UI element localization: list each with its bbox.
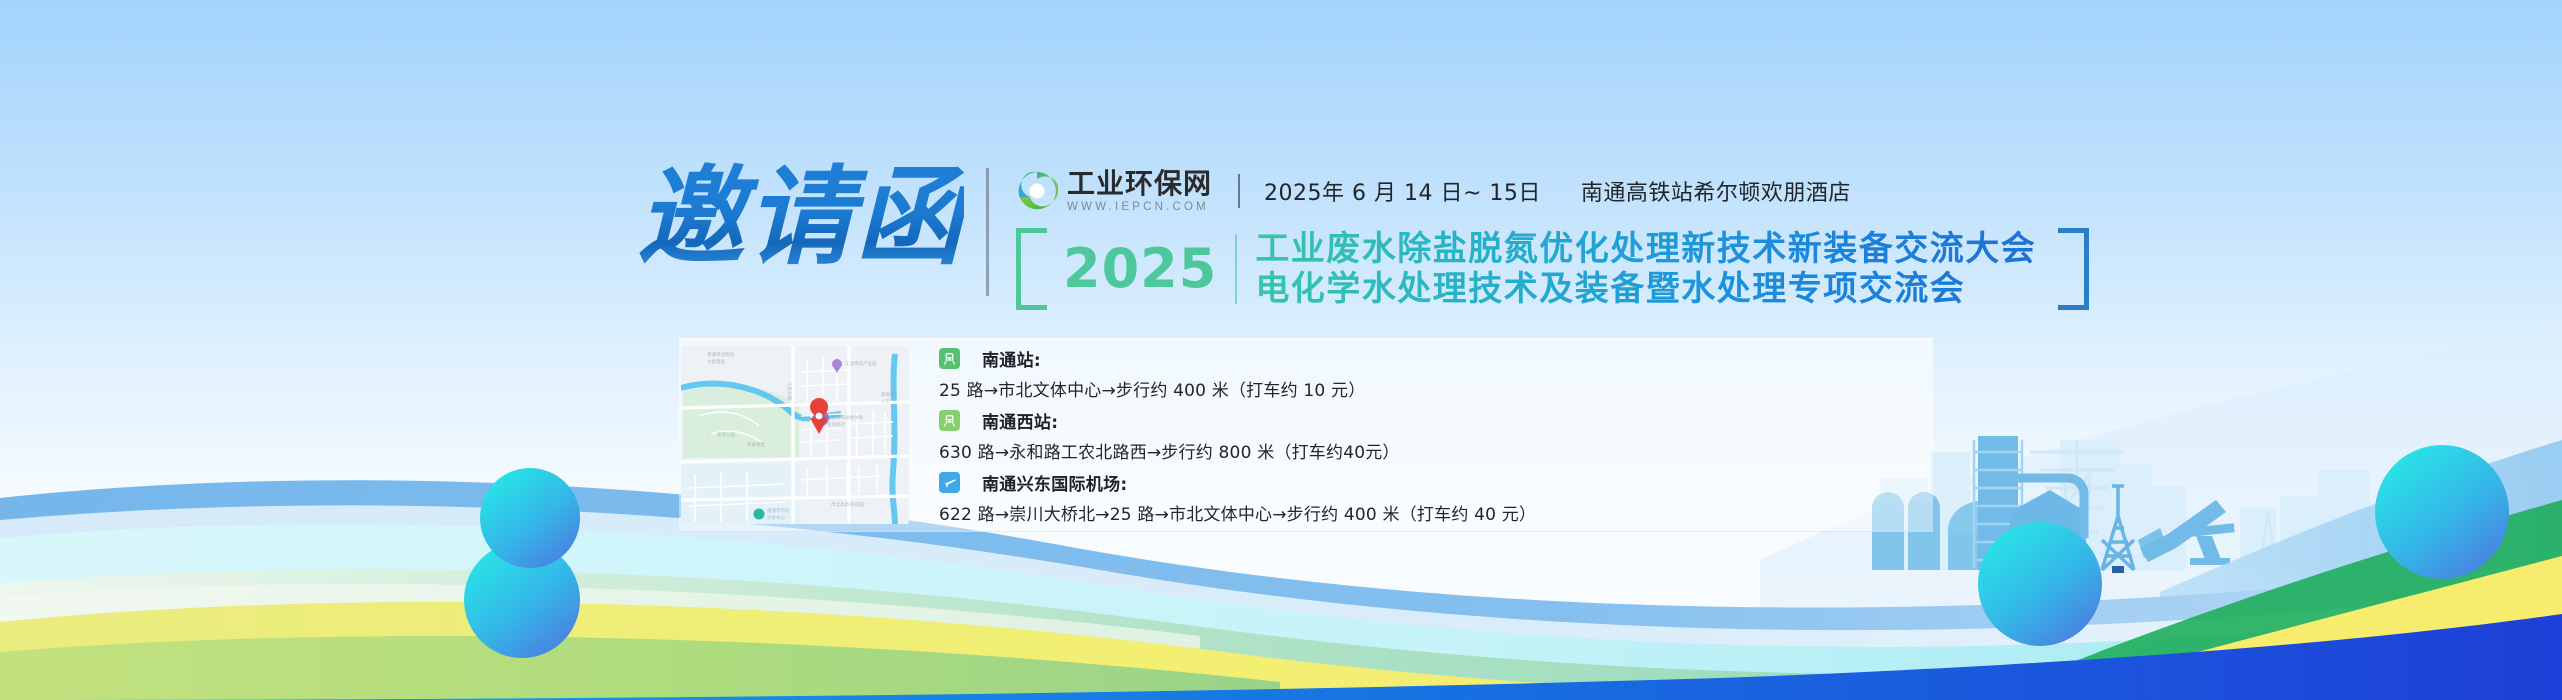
route-header: 南通兴东国际机场: <box>939 472 1536 494</box>
svg-text:欢朋酒店: 欢朋酒店 <box>827 421 845 428</box>
transport-info-card: 南通市北物流 力星电商 紫琅公园 喷泉景区 工业博览产业园 南通高铁站希尔顿 欢… <box>679 338 1933 532</box>
conference-title-lines: 工业废水除盐脱氮优化处理新技术新装备交流大会 电化学水处理技术及装备暨水处理专项… <box>1255 228 2036 310</box>
banner-header: 邀请函 <box>637 162 1957 312</box>
title-separator <box>1235 234 1237 304</box>
svg-text:喷泉景区: 喷泉景区 <box>747 441 765 448</box>
map-thumbnail[interactable]: 南通市北物流 力星电商 紫琅公园 喷泉景区 工业博览产业园 南通高铁站希尔顿 欢… <box>681 346 909 524</box>
airplane-icon <box>939 472 960 493</box>
route-description: 25 路→市北文体中心→步行约 400 米（打车约 10 元） <box>939 376 1536 401</box>
route-list: 南通站: 25 路→市北文体中心→步行约 400 米（打车约 10 元） <box>939 346 1536 525</box>
conference-title-row: 2025 工业废水除盐脱氮优化处理新技术新装备交流大会 电化学水处理技术及装备暨… <box>1016 228 2089 310</box>
invitation-banner: 邀请函 <box>0 0 2562 700</box>
route-name: 南通西站: <box>982 408 1058 433</box>
svg-text:小学: 小学 <box>881 398 890 405</box>
brand-separator <box>1238 174 1240 208</box>
svg-text:紫琅公园: 紫琅公园 <box>717 431 735 438</box>
ring-logo-icon <box>1016 170 1058 212</box>
route-name: 南通兴东国际机场: <box>982 470 1128 495</box>
svg-text:文体中心: 文体中心 <box>767 514 785 521</box>
event-venue: 南通高铁站希尔顿欢朋酒店 <box>1581 175 1851 207</box>
page-title: 邀请函 <box>637 162 964 274</box>
conference-title-line-2: 电化学水处理技术及装备暨水处理专项交流会 <box>1255 269 2036 309</box>
route-item: 南通西站: 630 路→永和路工农北路西→步行约 800 米（打车约40元） <box>939 410 1536 463</box>
brand-name: 工业环保网 <box>1067 169 1212 199</box>
header-divider <box>986 168 989 296</box>
train-icon <box>939 410 960 431</box>
route-item: 南通兴东国际机场: 622 路→崇川大桥北→25 路→市北文体中心→步行约 40… <box>939 472 1536 525</box>
svg-text:紫琅湖: 紫琅湖 <box>881 391 895 398</box>
brand-text: 工业环保网 WWW.IEPCN.COM <box>1067 169 1212 214</box>
event-year: 2025 <box>1063 228 1217 310</box>
svg-text:力星电商: 力星电商 <box>707 358 725 365</box>
route-description: 622 路→崇川大桥北→25 路→市北文体中心→步行约 400 米（打车约 40… <box>939 500 1536 525</box>
svg-text:工农北路: 工农北路 <box>786 382 793 400</box>
bracket-left <box>1016 228 1047 310</box>
route-item: 南通站: 25 路→市北文体中心→步行约 400 米（打车约 10 元） <box>939 348 1536 401</box>
conference-title-line-1: 工业废水除盐脱氮优化处理新技术新装备交流大会 <box>1255 229 2036 269</box>
svg-text:工业博览产业园: 工业博览产业园 <box>845 360 877 367</box>
bracket-right <box>2058 228 2089 310</box>
svg-text:南通高铁站希尔顿: 南通高铁站希尔顿 <box>827 414 863 421</box>
route-description: 630 路→永和路工农北路西→步行约 800 米（打车约40元） <box>939 438 1536 463</box>
brand-url: WWW.IEPCN.COM <box>1067 201 1212 214</box>
route-header: 南通西站: <box>939 410 1536 432</box>
svg-text:市北高新·科创园: 市北高新·科创园 <box>831 501 864 508</box>
svg-text:南通市北物流: 南通市北物流 <box>707 351 734 358</box>
route-header: 南通站: <box>939 348 1536 370</box>
event-date: 2025年 6 月 14 日~ 15日 <box>1264 175 1541 207</box>
header-right-column: 工业环保网 WWW.IEPCN.COM 2025年 6 月 14 日~ 15日 … <box>1016 162 2089 310</box>
route-name: 南通站: <box>982 346 1041 371</box>
train-icon <box>939 348 960 369</box>
brand-row: 工业环保网 WWW.IEPCN.COM 2025年 6 月 14 日~ 15日 … <box>1016 166 2089 216</box>
svg-text:南通市市北: 南通市市北 <box>767 507 790 514</box>
